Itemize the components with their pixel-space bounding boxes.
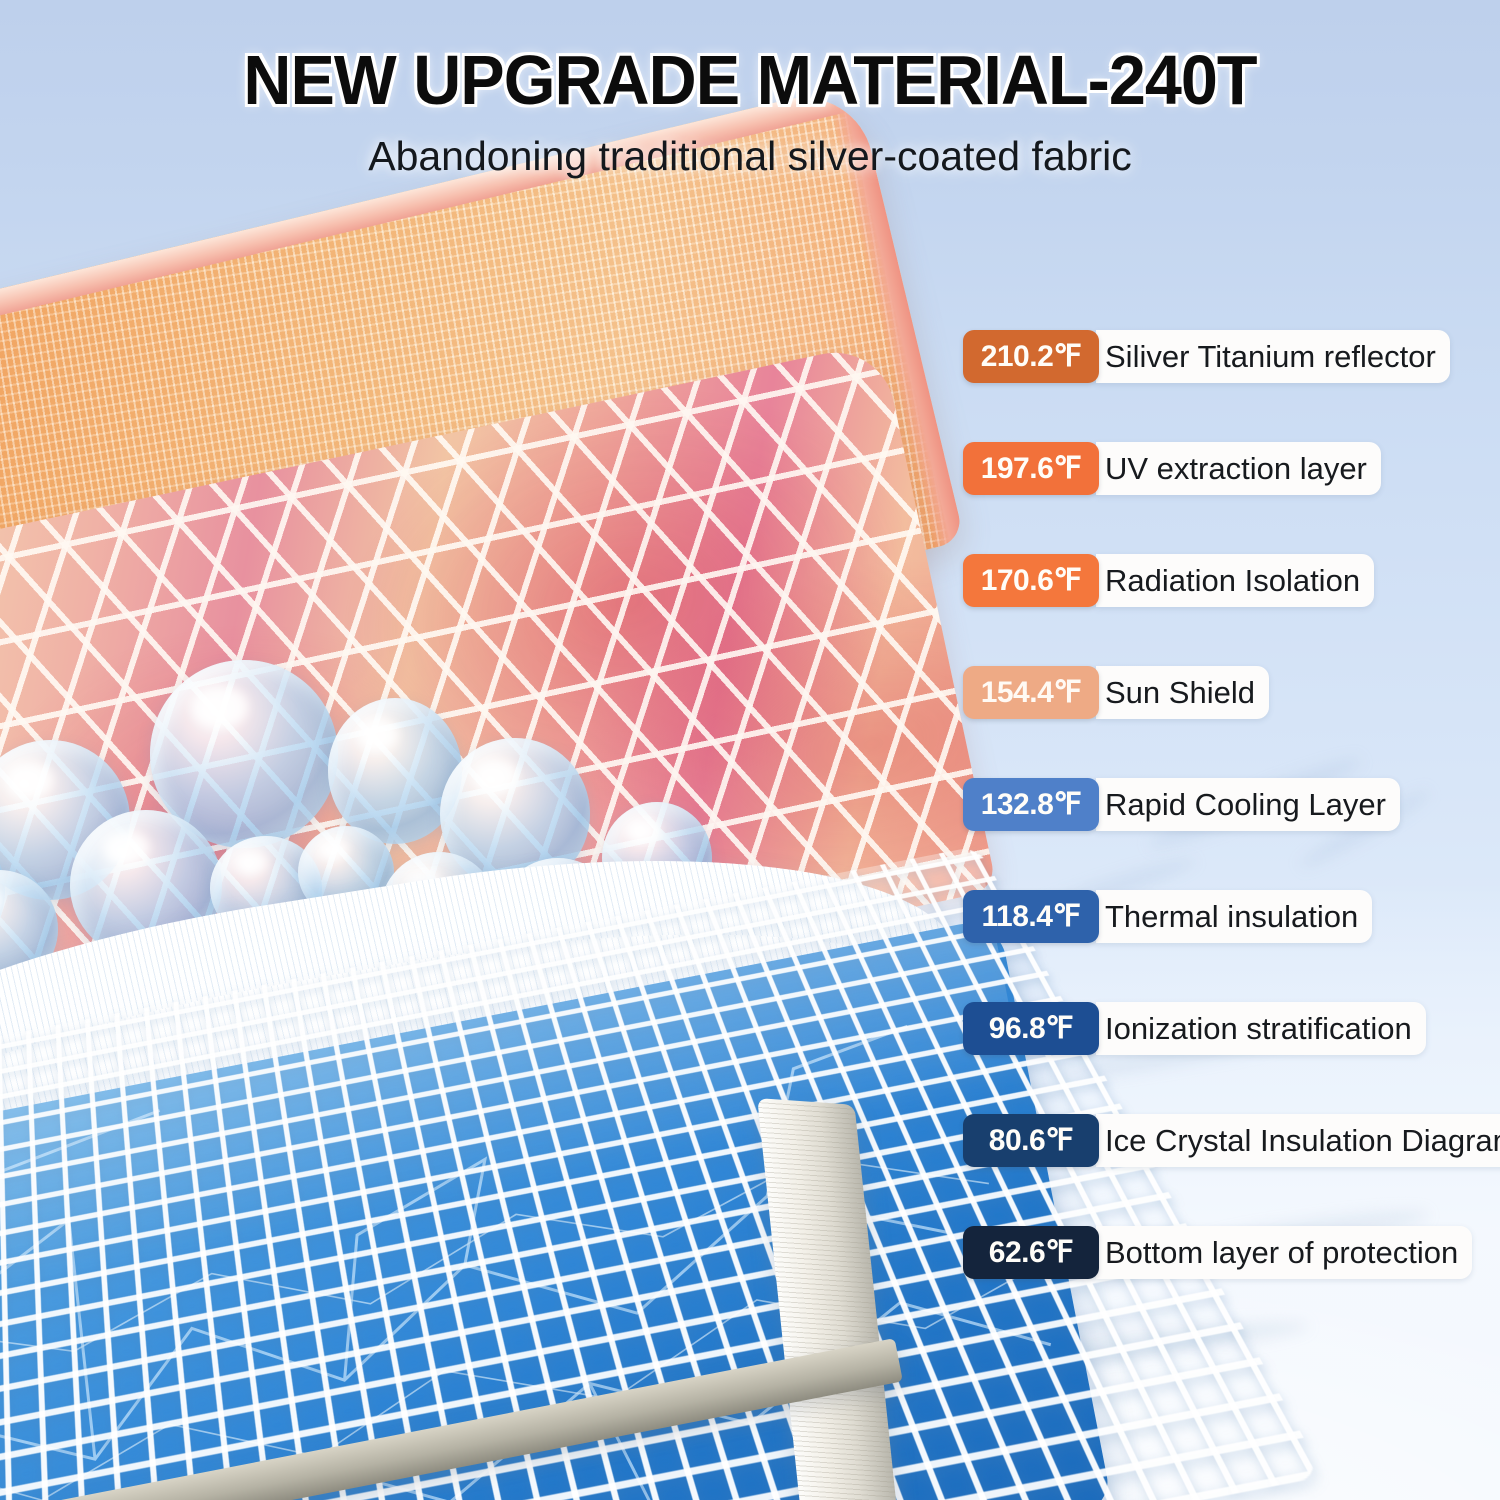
layer-name-label: Thermal insulation <box>1096 890 1372 943</box>
layer-name-label: UV extraction layer <box>1096 442 1381 495</box>
page-subtitle: Abandoning traditional silver-coated fab… <box>0 134 1500 179</box>
layer-label-list: 210.2℉Siliver Titanium reflector197.6℉UV… <box>963 330 1500 1338</box>
fine-rib-texture <box>0 867 977 1262</box>
silver-titanium-reflector-layer <box>0 83 965 799</box>
ice-crystal-layer <box>0 917 1113 1500</box>
bubble <box>0 816 5 966</box>
fabric-layer-illustration <box>0 200 970 1500</box>
bubble <box>610 912 738 1040</box>
layer-label-row: 80.6℉Ice Crystal Insulation Diagram <box>963 1114 1500 1167</box>
temperature-badge: 210.2℉ <box>963 330 1099 383</box>
layer-label-row: 154.4℉Sun Shield <box>963 666 1269 719</box>
bubble <box>210 836 322 940</box>
rib-texture <box>0 83 965 799</box>
binding-edge <box>757 1098 909 1500</box>
bubble <box>440 738 590 890</box>
bubble <box>702 972 806 1076</box>
rapid-cooling-sheet <box>0 799 969 1191</box>
binding-rib-texture <box>757 1098 909 1500</box>
bubble <box>328 698 462 844</box>
fine-rib-texture <box>0 799 969 1191</box>
layer-label-row: 170.6℉Radiation Isolation <box>963 554 1374 607</box>
temperature-badge: 118.4℉ <box>963 890 1099 943</box>
bubble <box>496 858 620 984</box>
layer-label-row: 210.2℉Siliver Titanium reflector <box>963 330 1450 383</box>
rib-texture-cross <box>0 83 965 799</box>
bubble <box>380 852 498 972</box>
temperature-badge: 62.6℉ <box>963 1226 1099 1279</box>
layer-label-row: 132.8℉Rapid Cooling Layer <box>963 778 1400 831</box>
temperature-badge: 154.4℉ <box>963 666 1099 719</box>
mesh-highlight <box>0 846 1085 1500</box>
temperature-badge: 132.8℉ <box>963 778 1099 831</box>
thermal-insulation-sheet <box>0 867 977 1262</box>
heat-tint <box>0 342 997 1131</box>
bottom-protection-edge <box>0 1338 903 1500</box>
bubble <box>298 826 394 918</box>
layer-name-label: Siliver Titanium reflector <box>1096 330 1450 383</box>
layer-label-row: 62.6℉Bottom layer of protection <box>963 1226 1472 1279</box>
layer-name-label: Ionization stratification <box>1096 1002 1426 1055</box>
temperature-badge: 96.8℉ <box>963 1002 1099 1055</box>
bubble <box>0 870 58 988</box>
layer-name-label: Sun Shield <box>1096 666 1269 719</box>
layer-label-row: 118.4℉Thermal insulation <box>963 890 1372 943</box>
layer-label-row: 96.8℉Ionization stratification <box>963 1002 1426 1055</box>
bubble-cluster <box>0 620 940 1040</box>
hexagon-grid <box>0 342 997 1131</box>
layer-name-label: Rapid Cooling Layer <box>1096 778 1400 831</box>
bubble <box>150 660 338 848</box>
bubble <box>70 810 222 960</box>
bubble <box>602 802 712 914</box>
page-title: NEW UPGRADE MATERIAL-240T <box>38 44 1463 118</box>
temperature-badge: 197.6℉ <box>963 442 1099 495</box>
layer-label-row: 197.6℉UV extraction layer <box>963 442 1381 495</box>
ice-crack-pattern <box>0 917 1113 1500</box>
bubble <box>0 740 130 900</box>
temperature-badge: 80.6℉ <box>963 1114 1099 1167</box>
layer-name-label: Bottom layer of protection <box>1096 1226 1472 1279</box>
layer-name-label: Radiation Isolation <box>1096 554 1374 607</box>
infographic-canvas: NEW UPGRADE MATERIAL-240T Abandoning tra… <box>0 0 1500 1500</box>
honeycomb-uv-layer <box>0 342 997 1131</box>
layer-name-label: Ice Crystal Insulation Diagram <box>1096 1114 1500 1167</box>
header-block: NEW UPGRADE MATERIAL-240T Abandoning tra… <box>0 44 1500 179</box>
temperature-badge: 170.6℉ <box>963 554 1099 607</box>
